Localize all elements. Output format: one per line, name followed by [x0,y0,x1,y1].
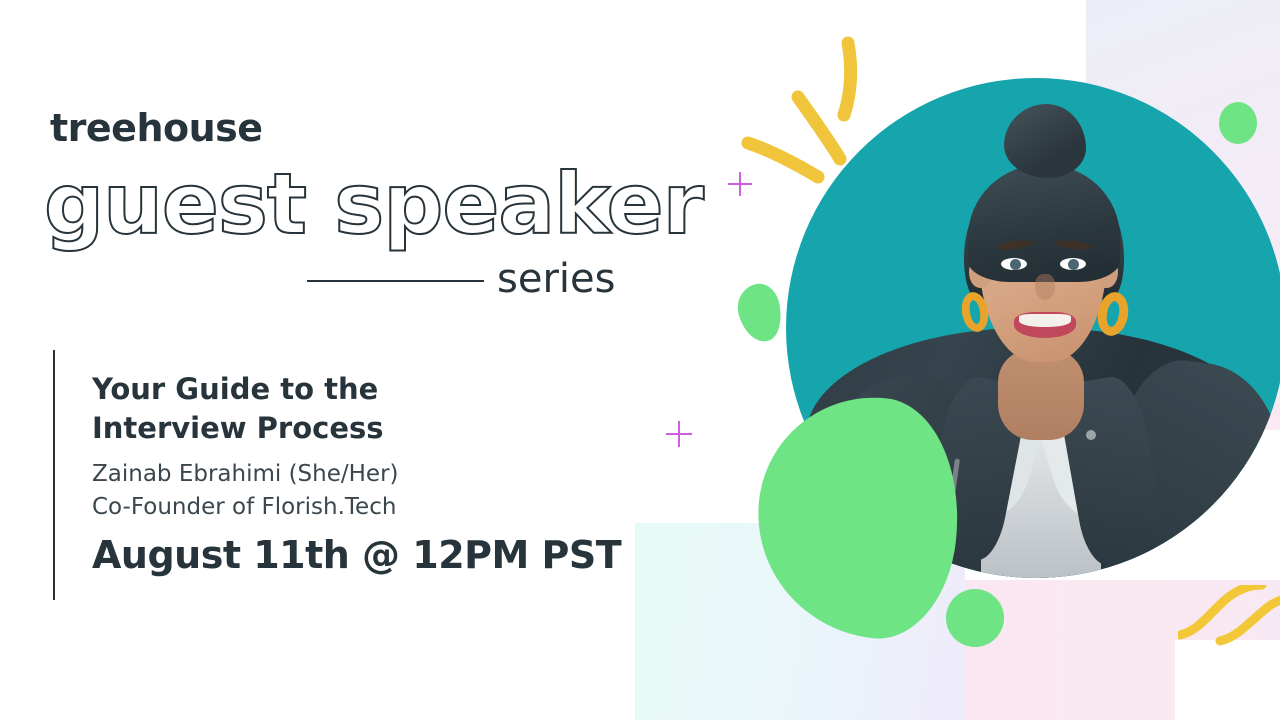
brand-wordmark: treehouse [50,106,263,150]
plus-mark-icon-upper [728,172,752,196]
event-date-time: August 11th @ 12PM PST [92,533,621,577]
promo-slide: treehouse guest speaker series Your Guid… [0,0,1280,720]
plus-mark-icon-lower [666,421,692,447]
page-title: guest speaker [44,160,703,248]
vertical-divider [53,350,55,600]
talk-title: Your Guide to the Interview Process [92,370,384,448]
series-divider [307,280,484,282]
organic-blob-icon-bottom [946,589,1004,647]
series-label: series [497,256,615,302]
organic-blob-icon-small [733,280,788,346]
speaker-name: Zainab Ebrahimi (She/Her) [92,461,399,487]
wavy-line-icon [1178,585,1280,685]
speaker-role: Co-Founder of Florish.Tech [92,494,396,520]
